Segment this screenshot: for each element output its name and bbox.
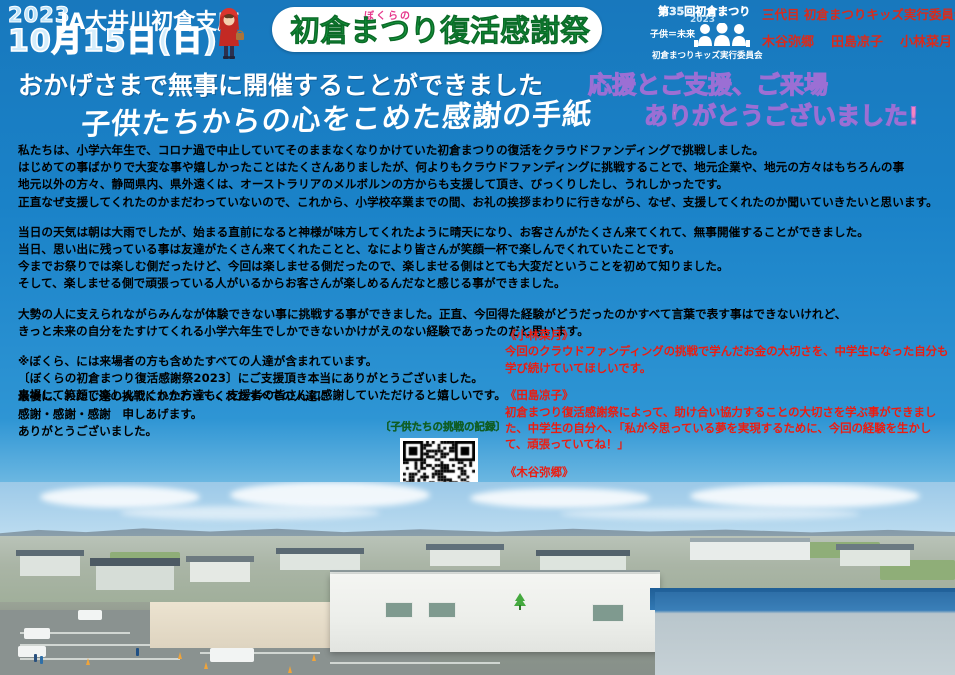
annex-building (150, 602, 340, 648)
qr-label: 〔子供たちの挑戦の記録〕 (380, 419, 498, 434)
three-people-icon (694, 23, 750, 47)
credits-name-list: 木谷弥郷 田島凉子 小林菜月 (762, 31, 952, 50)
house-roof (90, 558, 180, 566)
testimonial-text: 初倉まつり復活感謝祭によって、助け合い協力することの大切さを学ぶ事ができました、… (505, 404, 953, 453)
house-roof (276, 548, 364, 554)
house-roof (186, 556, 254, 562)
blue-warehouse (655, 592, 955, 675)
lot-line (330, 662, 500, 664)
cloud (230, 482, 430, 508)
red-riding-hood-character-icon (212, 6, 246, 60)
thanks-message: 応援とご支援、ご来場 ありがとうございました! (588, 70, 919, 132)
testimonial-name: 《田島凉子》 (505, 387, 953, 403)
lot-line (20, 658, 180, 660)
committee-credits: 三代目 初倉まつりキッズ実行委員会 木谷弥郷 田島凉子 小林菜月 (762, 8, 952, 50)
house-roof (16, 550, 84, 556)
testimonial-name: 《小林菜月》 (505, 327, 953, 343)
house (840, 548, 910, 566)
cloud (470, 488, 650, 508)
header-event-date: 10月15日(日) (8, 26, 218, 58)
van (210, 648, 254, 662)
house (190, 560, 250, 582)
person (40, 656, 43, 664)
credit-name: 田島凉子 (831, 31, 883, 50)
credit-name: 小林菜月 (900, 31, 952, 50)
cloud (560, 508, 860, 520)
festival-title-pill: ぼくらの 初倉まつり復活感謝祭 (272, 7, 602, 52)
car (24, 628, 50, 639)
logo-tagline: 子供＝未来 (650, 27, 695, 40)
house-roof (426, 544, 504, 550)
festival-title: 初倉まつり復活感謝祭 (290, 16, 590, 48)
poster-header: 2023 JA大井川初倉支店 10月15日(日) ぼくらの 初倉まつり復活感謝祭… (0, 0, 955, 62)
cloud (690, 484, 920, 508)
logo-subtitle: 初倉まつりキッズ実行委員会 (652, 49, 763, 61)
credit-name: 木谷弥郷 (762, 31, 814, 50)
house (280, 552, 360, 570)
testimonial-item: 《田島凉子》 初倉まつり復活感謝祭によって、助け合い協力することの大切さを学ぶ事… (505, 387, 953, 453)
thanks-line-2: ありがとうございました! (644, 101, 919, 132)
cloud (120, 506, 380, 520)
distant-roof (690, 538, 810, 542)
cloud (40, 486, 200, 508)
house (96, 564, 174, 590)
person (136, 648, 139, 656)
house-roof (536, 550, 630, 556)
kids-committee-logo: 第35回初倉まつり 2023 子供＝未来 初倉まつりキッズ実行委員会 (650, 3, 760, 61)
letter-closing: 最後に、わたし達の挑戦にかかわってくれたすべての人達に感謝・感謝・感謝 申しあげ… (18, 388, 328, 441)
car (78, 610, 102, 620)
letter-paragraph: 当日の天気は朝は大雨でしたが、始まる直前になると神様が味方してくれたように晴天に… (18, 224, 943, 293)
house-roof (836, 544, 914, 550)
ja-tree-logo-icon (512, 592, 528, 612)
window (592, 604, 624, 622)
distant-building (690, 540, 810, 560)
window (428, 602, 456, 618)
house (430, 548, 500, 566)
testimonial-item: 《小林菜月》 今回のクラウドファンディングの挑戦で学んだお金の大切さを、中学生に… (505, 327, 953, 376)
festival-thankyou-poster: 2023 JA大井川初倉支店 10月15日(日) ぼくらの 初倉まつり復活感謝祭… (0, 0, 955, 675)
letter-paragraph: 私たちは、小学六年生で、コロナ過で中止していてそのままなくなりかけていた初倉まつ… (18, 142, 943, 211)
credits-title: 三代目 初倉まつりキッズ実行委員会 (762, 8, 952, 22)
person (34, 654, 37, 662)
house (20, 554, 80, 576)
window (385, 602, 413, 618)
aerial-photo (0, 482, 955, 675)
thanks-line-1: 応援とご支援、ご来場 (588, 71, 828, 99)
testimonial-text: 今回のクラウドファンディングの挑戦で学んだお金の大切さを、中学生になった自分も学… (505, 343, 953, 376)
testimonial-name: 《木谷弥郷》 (505, 464, 953, 480)
